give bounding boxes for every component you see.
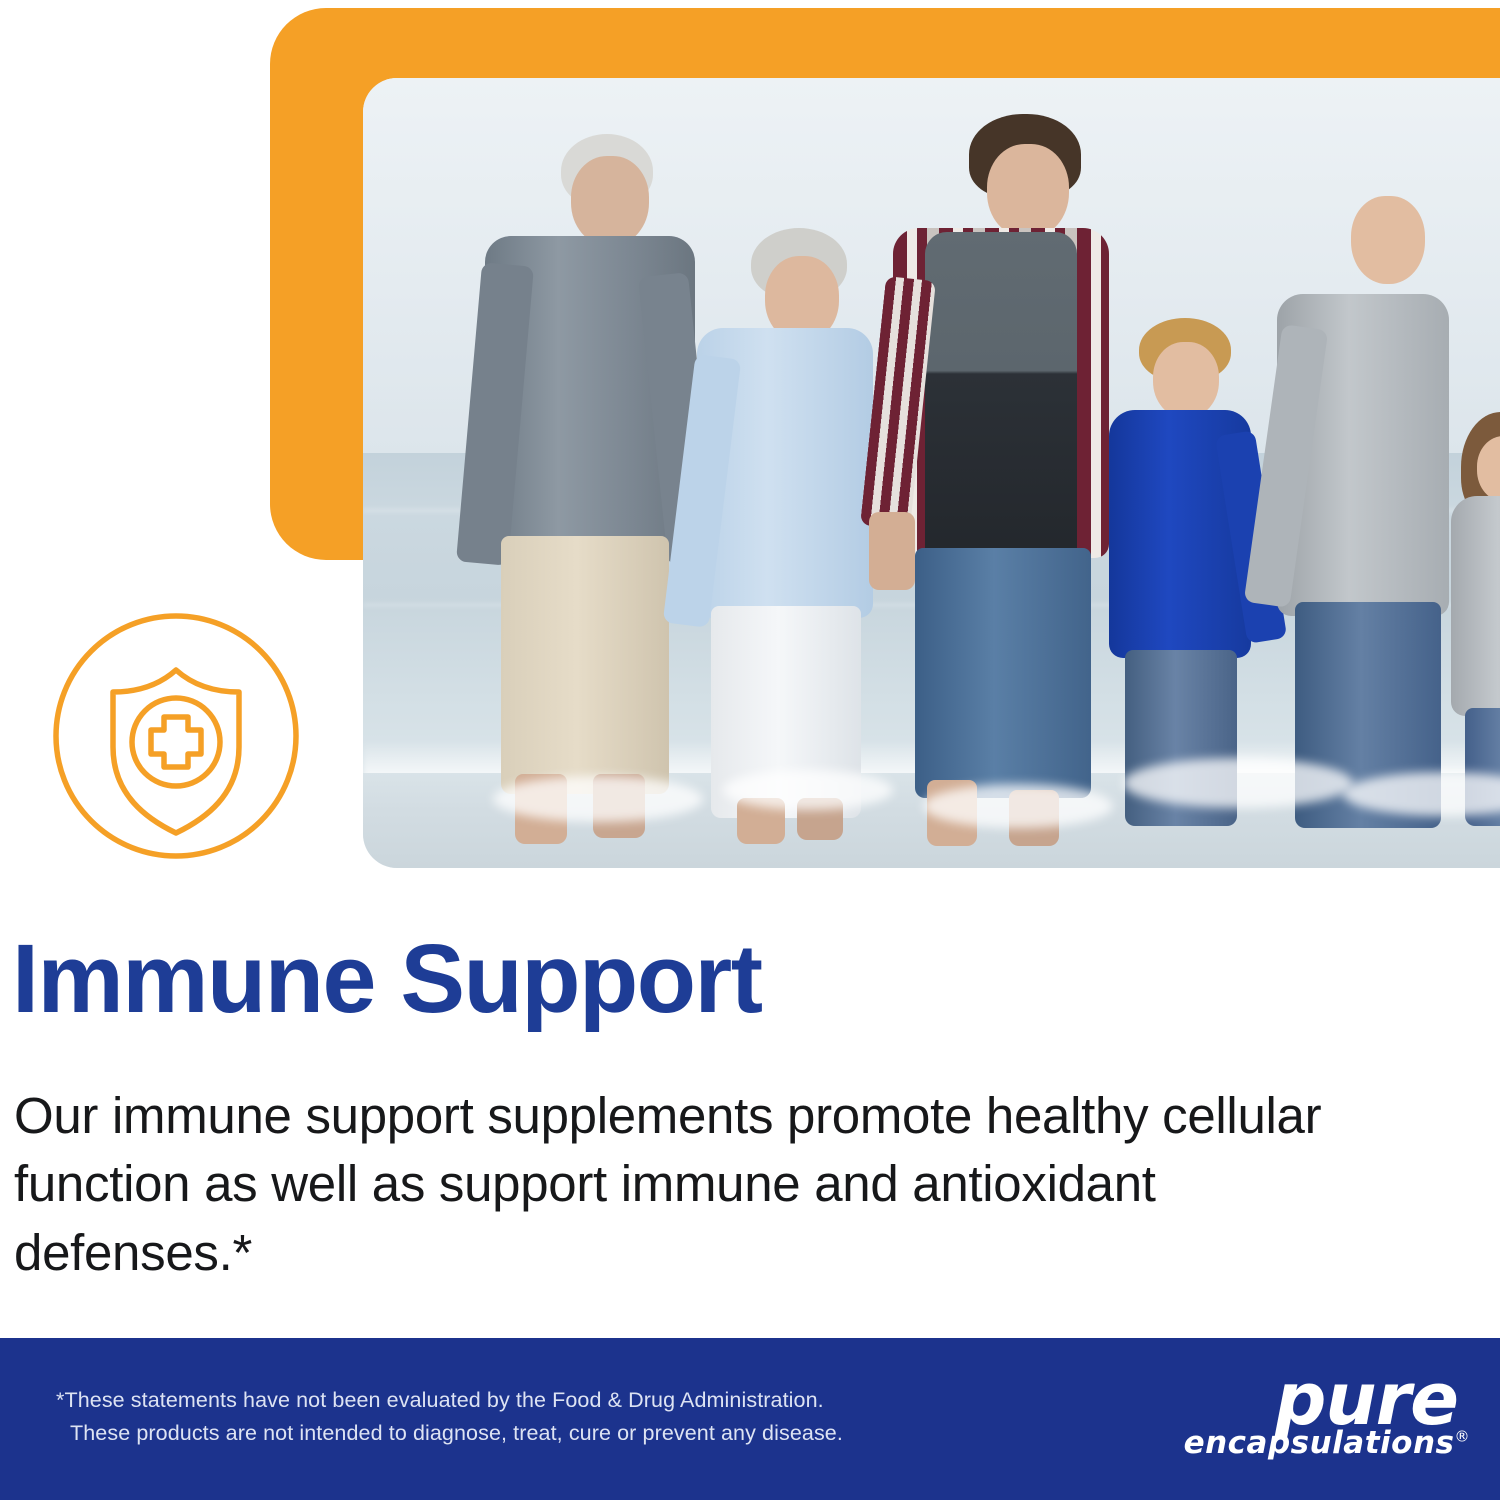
hero-photo <box>363 78 1500 868</box>
young-girl-jacket <box>1451 496 1500 716</box>
person-older-woman <box>663 178 893 838</box>
body-copy: Our immune support supplements promote h… <box>14 1082 1344 1287</box>
fda-disclaimer-line-2: These products are not intended to diagn… <box>56 1417 843 1450</box>
water-foam-1 <box>493 776 703 822</box>
brand-logo-secondary-text: encapsulations <box>1184 1425 1455 1461</box>
brand-logo: pure encapsulations® <box>1140 1366 1470 1476</box>
person-young-girl <box>1425 384 1500 824</box>
marketing-banner: Immune Support Our immune support supple… <box>0 0 1500 1500</box>
adult-man-left-hand <box>869 512 915 590</box>
page-title: Immune Support <box>12 930 762 1027</box>
adult-woman-head <box>1351 196 1425 284</box>
older-man-trousers <box>501 536 669 794</box>
young-boy-head <box>1153 342 1219 418</box>
water-foam-2 <box>723 770 893 810</box>
adult-man-quilted-vest <box>925 232 1077 562</box>
footer-bar: *These statements have not been evaluate… <box>0 1338 1500 1500</box>
registered-trademark-icon: ® <box>1455 1428 1471 1446</box>
brand-logo-secondary: encapsulations® <box>1140 1428 1470 1459</box>
immune-shield-badge <box>47 607 305 865</box>
water-foam-4 <box>1123 758 1353 808</box>
water-foam-3 <box>923 784 1113 828</box>
shield-medical-cross-icon <box>47 607 305 865</box>
adult-man-jeans <box>915 548 1091 798</box>
brand-logo-primary: pure <box>1140 1366 1458 1432</box>
adult-man-head <box>987 144 1069 238</box>
older-man-head <box>571 156 649 246</box>
fda-disclaimer-line-1: *These statements have not been evaluate… <box>56 1384 843 1417</box>
fda-disclaimer: *These statements have not been evaluate… <box>56 1384 843 1451</box>
